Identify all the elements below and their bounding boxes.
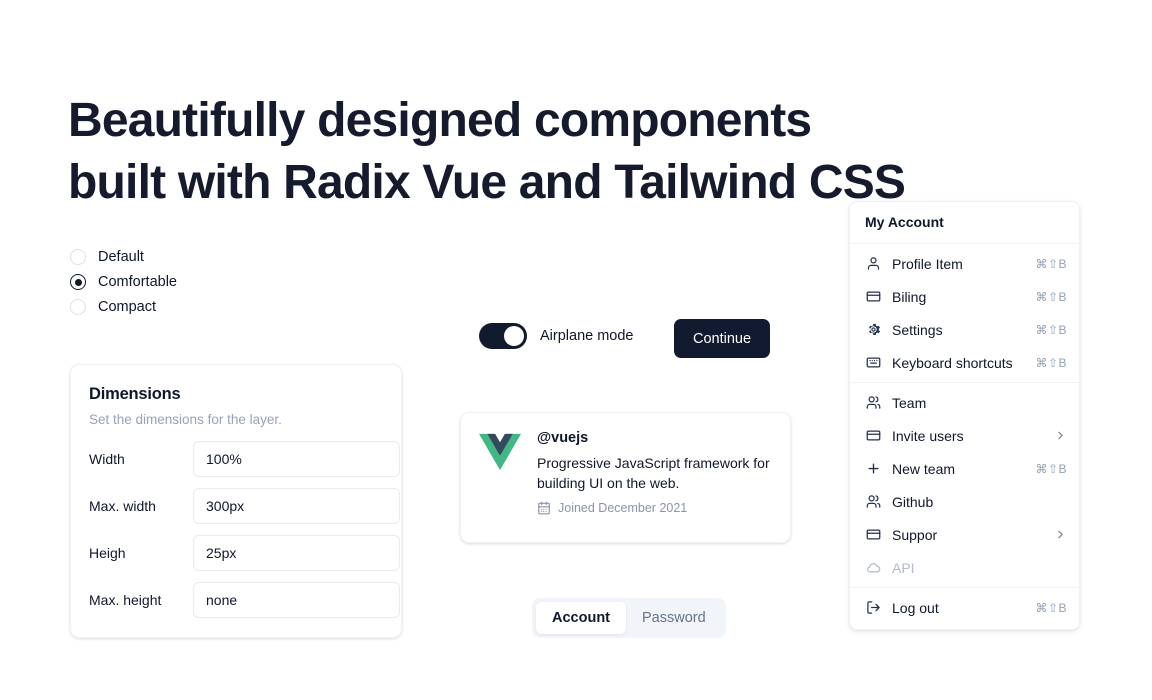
keyboard-icon xyxy=(865,355,881,371)
menu-item-label: API xyxy=(892,560,1067,576)
hover-card-handle: @vuejs xyxy=(537,430,772,446)
menu-item-label: Team xyxy=(892,395,1067,411)
dimensions-title: Dimensions xyxy=(89,385,383,404)
max-height-input[interactable] xyxy=(193,582,400,618)
menu-item-label: Github xyxy=(892,494,1067,510)
vue-logo-icon xyxy=(479,432,521,472)
hover-card-description: Progressive JavaScript framework for bui… xyxy=(537,453,772,493)
menu-item-billing[interactable]: Biling ⌘⇧B xyxy=(850,280,1079,313)
menu-item-shortcut: ⌘⇧B xyxy=(1035,323,1067,337)
field-label: Heigh xyxy=(89,545,193,561)
tab-account[interactable]: Account xyxy=(536,602,626,634)
account-dropdown-menu: My Account Profile Item ⌘⇧B Biling ⌘⇧B xyxy=(849,201,1080,630)
airplane-mode-switch-group: Airplane mode xyxy=(479,323,634,349)
users-icon xyxy=(865,494,881,510)
radio-option-compact[interactable]: Compact xyxy=(70,299,177,315)
width-input[interactable] xyxy=(193,441,400,477)
airplane-mode-switch[interactable] xyxy=(479,323,527,349)
menu-item-shortcut: ⌘⇧B xyxy=(1035,601,1067,615)
menu-separator xyxy=(850,382,1079,383)
menu-item-shortcut: ⌘⇧B xyxy=(1035,356,1067,370)
menu-item-label: Settings xyxy=(892,322,1024,338)
page-title-line-1: Beautifully designed components xyxy=(68,90,1028,152)
dimensions-field-height: Heigh xyxy=(89,535,383,571)
credit-card-icon xyxy=(865,428,881,444)
menu-item-api: API xyxy=(850,551,1079,584)
menu-item-shortcut: ⌘⇧B xyxy=(1035,257,1067,271)
menu-item-shortcut: ⌘⇧B xyxy=(1035,290,1067,304)
menu-item-team[interactable]: Team xyxy=(850,386,1079,419)
continue-button[interactable]: Continue xyxy=(674,319,770,358)
user-icon xyxy=(865,256,881,272)
dimensions-description: Set the dimensions for the layer. xyxy=(89,412,383,427)
menu-item-keyboard-shortcuts[interactable]: Keyboard shortcuts ⌘⇧B xyxy=(850,346,1079,379)
dimensions-field-max-width: Max. width xyxy=(89,488,383,524)
menu-item-shortcut: ⌘⇧B xyxy=(1035,462,1067,476)
dimensions-field-width: Width xyxy=(89,441,383,477)
settings-tabs: Account Password xyxy=(532,598,726,638)
menu-item-settings[interactable]: Settings ⌘⇧B xyxy=(850,313,1079,346)
credit-card-icon xyxy=(865,289,881,305)
dimensions-field-max-height: Max. height xyxy=(89,582,383,618)
field-label: Width xyxy=(89,451,193,467)
radio-label: Default xyxy=(98,249,144,265)
menu-item-invite-users[interactable]: Invite users xyxy=(850,419,1079,452)
chevron-right-icon xyxy=(1054,528,1067,541)
menu-item-profile[interactable]: Profile Item ⌘⇧B xyxy=(850,247,1079,280)
radio-indicator[interactable] xyxy=(70,249,86,265)
menu-label: My Account xyxy=(850,207,1079,240)
dimensions-card: Dimensions Set the dimensions for the la… xyxy=(70,364,402,638)
radio-indicator[interactable] xyxy=(70,299,86,315)
cloud-icon xyxy=(865,560,881,576)
menu-item-label: New team xyxy=(892,461,1024,477)
hover-card-body: @vuejs Progressive JavaScript framework … xyxy=(537,430,772,525)
radio-option-comfortable[interactable]: Comfortable xyxy=(70,274,177,290)
menu-item-label: Suppor xyxy=(892,527,1043,543)
page-root: Beautifully designed components built wi… xyxy=(0,0,1152,700)
menu-item-label: Biling xyxy=(892,289,1024,305)
chevron-right-icon xyxy=(1054,429,1067,442)
menu-separator xyxy=(850,243,1079,244)
radio-label: Compact xyxy=(98,299,156,315)
hover-card-joined-text: Joined December 2021 xyxy=(558,501,687,515)
menu-item-new-team[interactable]: New team ⌘⇧B xyxy=(850,452,1079,485)
menu-item-label: Profile Item xyxy=(892,256,1024,272)
tab-password[interactable]: Password xyxy=(626,602,722,634)
page-title: Beautifully designed components built wi… xyxy=(68,90,1028,214)
plus-icon xyxy=(865,461,881,477)
menu-item-label: Log out xyxy=(892,600,1024,616)
menu-separator xyxy=(850,587,1079,588)
radio-option-default[interactable]: Default xyxy=(70,249,177,265)
menu-item-label: Keyboard shortcuts xyxy=(892,355,1024,371)
credit-card-icon xyxy=(865,527,881,543)
menu-item-github[interactable]: Github xyxy=(850,485,1079,518)
menu-item-log-out[interactable]: Log out ⌘⇧B xyxy=(850,591,1079,624)
calendar-icon xyxy=(537,501,551,515)
field-label: Max. height xyxy=(89,592,193,608)
field-label: Max. width xyxy=(89,498,193,514)
hover-card-meta: Joined December 2021 xyxy=(537,501,772,515)
menu-item-support[interactable]: Suppor xyxy=(850,518,1079,551)
dimensions-fields: Width Max. width Heigh Max. height xyxy=(89,441,383,618)
max-width-input[interactable] xyxy=(193,488,400,524)
switch-knob xyxy=(504,326,524,346)
radio-label: Comfortable xyxy=(98,274,177,290)
logout-icon xyxy=(865,600,881,616)
vuejs-hover-card: @vuejs Progressive JavaScript framework … xyxy=(460,412,791,543)
gear-icon xyxy=(865,322,881,338)
density-radio-group: Default Comfortable Compact xyxy=(70,249,177,315)
height-input[interactable] xyxy=(193,535,400,571)
airplane-mode-label: Airplane mode xyxy=(540,328,634,344)
menu-item-label: Invite users xyxy=(892,428,1043,444)
radio-indicator-selected[interactable] xyxy=(70,274,86,290)
users-icon xyxy=(865,395,881,411)
